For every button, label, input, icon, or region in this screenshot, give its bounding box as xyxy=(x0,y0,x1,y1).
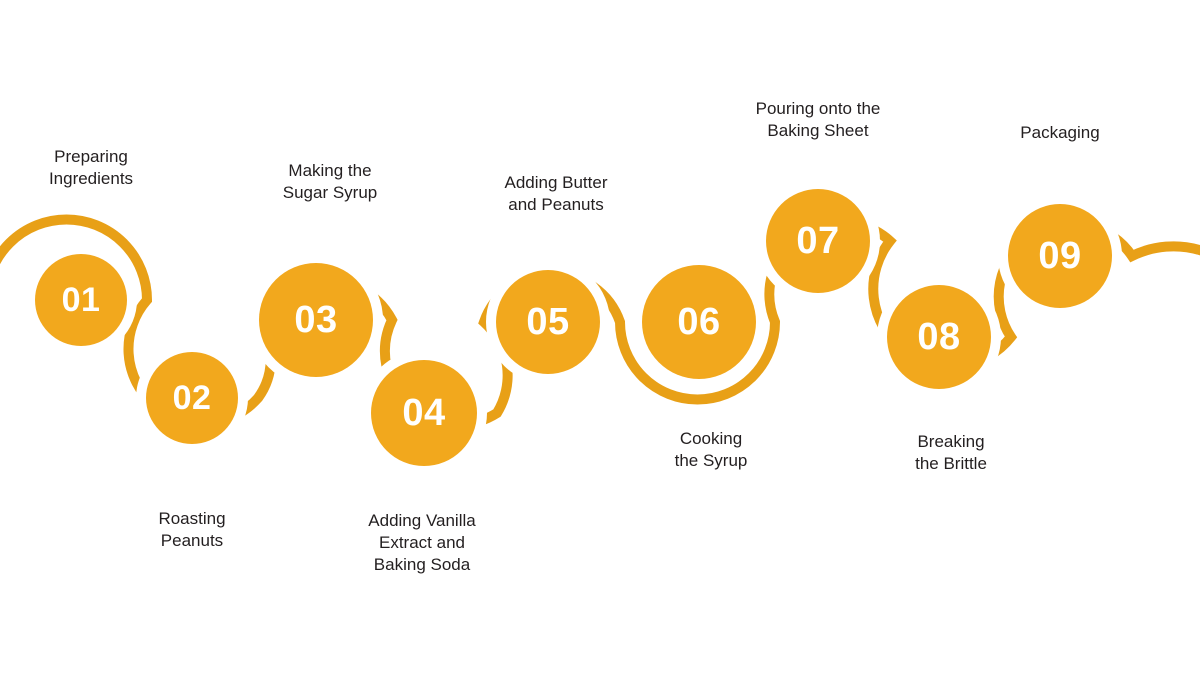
step-number-09: 09 xyxy=(1038,237,1081,275)
step-number-07: 07 xyxy=(796,222,839,260)
step-circle-01[interactable]: 01 xyxy=(35,254,127,346)
step-circle-06[interactable]: 06 xyxy=(642,265,756,379)
step-circle-09[interactable]: 09 xyxy=(1008,204,1112,308)
step-number-03: 03 xyxy=(294,301,337,339)
step-number-06: 06 xyxy=(677,303,720,341)
step-label-05: Adding Butter and Peanuts xyxy=(396,172,716,216)
step-circle-05[interactable]: 05 xyxy=(496,270,600,374)
step-circle-08[interactable]: 08 xyxy=(887,285,991,389)
step-number-02: 02 xyxy=(173,381,212,415)
step-number-04: 04 xyxy=(402,394,445,432)
step-number-05: 05 xyxy=(526,303,569,341)
step-label-09: Packaging xyxy=(900,122,1200,144)
step-number-08: 08 xyxy=(917,318,960,356)
step-circle-07[interactable]: 07 xyxy=(766,189,870,293)
step-number-01: 01 xyxy=(62,283,101,317)
infographic-canvas: 010203040506070809 Preparing Ingredients… xyxy=(0,0,1200,675)
step-label-08: Breaking the Brittle xyxy=(791,431,1111,475)
step-circle-02[interactable]: 02 xyxy=(146,352,238,444)
step-label-04: Adding Vanilla Extract and Baking Soda xyxy=(262,510,582,576)
step-circle-03[interactable]: 03 xyxy=(259,263,373,377)
step-circle-04[interactable]: 04 xyxy=(371,360,477,466)
